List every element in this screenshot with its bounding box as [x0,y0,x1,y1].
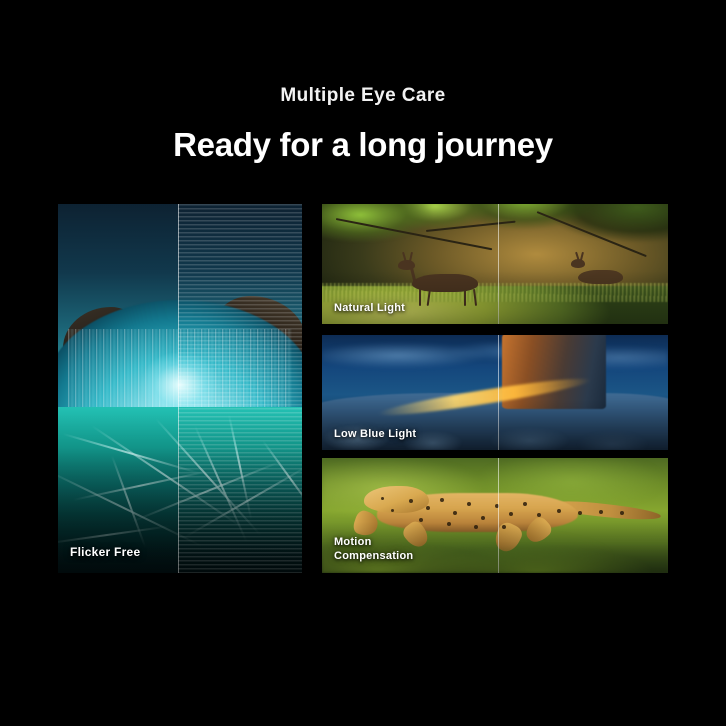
cheetah-spot [537,513,541,517]
foreground-rocks [322,411,668,450]
cheetah-spot [440,498,444,502]
cheetah-spot [620,511,624,515]
panel-motion-compensation[interactable]: Motion Compensation [322,458,668,573]
cheetah-spot [523,502,527,506]
cheetah-spot [502,525,506,529]
clouds [322,342,668,372]
panel-low-blue-light[interactable]: Low Blue Light [322,335,668,450]
cheetah-spot [509,512,513,516]
heading-block: Multiple Eye Care Ready for a long journ… [0,84,726,165]
cheetah-spot [481,516,485,520]
cheetah-spot [474,525,478,529]
deer-leg [464,289,466,306]
deer-body [578,270,623,284]
panel-flicker-free[interactable]: Flicker Free [58,204,302,573]
eye-care-feature-poster: Multiple Eye Care Ready for a long journ… [0,0,726,726]
eyebrow-text: Multiple Eye Care [0,84,726,108]
cheetah-spot [599,510,603,514]
cheetah-head [364,486,430,514]
grass-texture [322,283,668,302]
deer-body [412,274,478,292]
scene-running-cheetah [322,458,668,573]
scene-glacier-ice [58,204,302,573]
panel-natural-light[interactable]: Natural Light [322,204,668,324]
deer-leg [419,289,421,306]
cheetah-spot [557,509,561,513]
cheetah-spot [391,509,394,512]
cheetah-spot [495,504,499,508]
cheetah-spot [419,518,423,522]
cheetah-spot [381,497,384,500]
cheetah-spot [409,499,413,503]
scene-blue-canyon [322,335,668,450]
scene-deer-forest [322,204,668,324]
cheetah-spot [578,511,582,515]
feature-gallery: Flicker Free [58,204,668,573]
foreground-grass [322,543,668,573]
page-title: Ready for a long journey [0,125,726,165]
bottom-vignette [58,448,302,573]
